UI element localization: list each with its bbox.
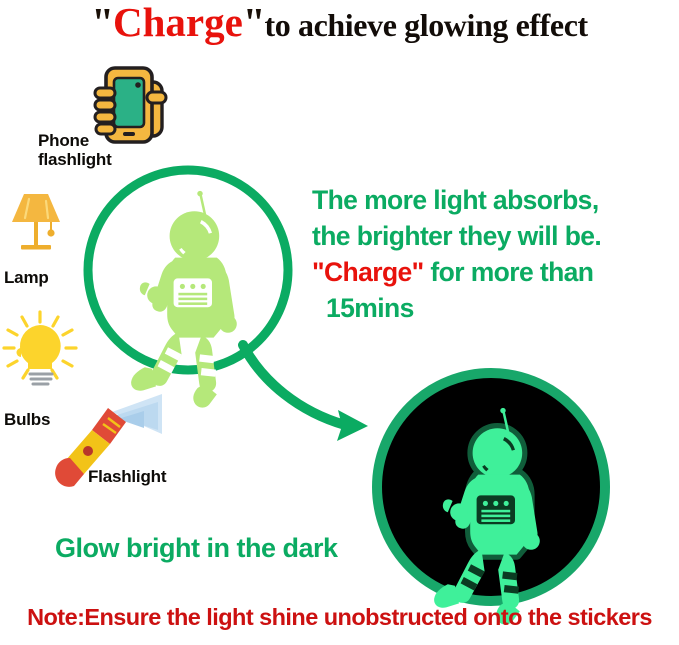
paragraph-line-4: 15mins [312, 290, 679, 326]
paragraph-line-3-rest: for more than [424, 257, 594, 287]
paragraph-charge-word: "Charge" [312, 257, 424, 287]
label-lamp: Lamp [4, 268, 49, 287]
label-phone-flashlight-line2: flashlight [38, 150, 112, 169]
poster-canvas: "Charge"to achieve glowing effect [0, 0, 679, 645]
flow-arrow [243, 345, 368, 441]
label-flashlight: Flashlight [88, 467, 166, 486]
paragraph-line-3: "Charge" for more than [312, 254, 679, 290]
label-phone-flashlight-line1: Phone [38, 131, 112, 150]
bulb-icon [2, 310, 78, 390]
description-paragraph: The more light absorbs, the brighter the… [312, 182, 679, 326]
paragraph-duration: 15mins [312, 290, 414, 326]
footer-note: Note:Ensure the light shine unobstructed… [0, 604, 679, 631]
label-phone-flashlight: Phone flashlight [38, 131, 112, 169]
paragraph-line-1: The more light absorbs, [312, 182, 679, 218]
paragraph-line-2: the brighter they will be. [312, 218, 679, 254]
glow-caption: Glow bright in the dark [55, 533, 338, 564]
lamp-icon [4, 190, 68, 254]
